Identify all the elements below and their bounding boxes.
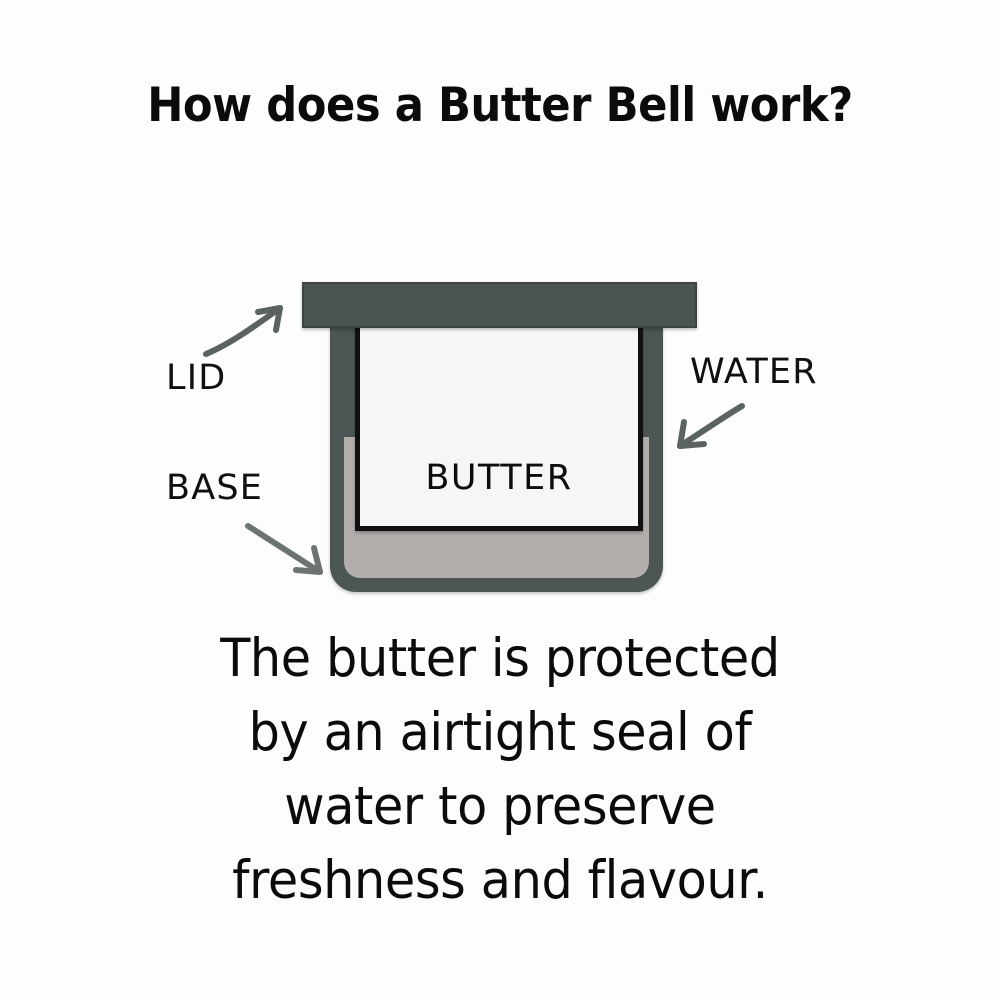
lid-label: LID [166, 358, 226, 398]
arrow-to-base-icon [240, 520, 330, 580]
arrow-to-water-icon [670, 400, 750, 455]
butter-chamber [355, 322, 643, 531]
body-paragraph: The butter is protected by an airtight s… [35, 622, 965, 918]
lid-part [302, 282, 697, 328]
body-line-2: by an airtight seal of [35, 696, 965, 770]
body-line-1: The butter is protected [35, 622, 965, 696]
body-line-3: water to preserve [35, 770, 965, 844]
water-label: WATER [690, 352, 818, 392]
butter-bell-diagram: BUTTER LID BASE WATER [0, 0, 1000, 640]
base-label: BASE [166, 468, 263, 508]
butter-label: BUTTER [355, 458, 643, 498]
infographic-canvas: How does a Butter Bell work? BUTTER LID … [0, 0, 1000, 1000]
arrow-to-lid-icon [200, 300, 290, 360]
body-line-4: freshness and flavour. [35, 844, 965, 918]
